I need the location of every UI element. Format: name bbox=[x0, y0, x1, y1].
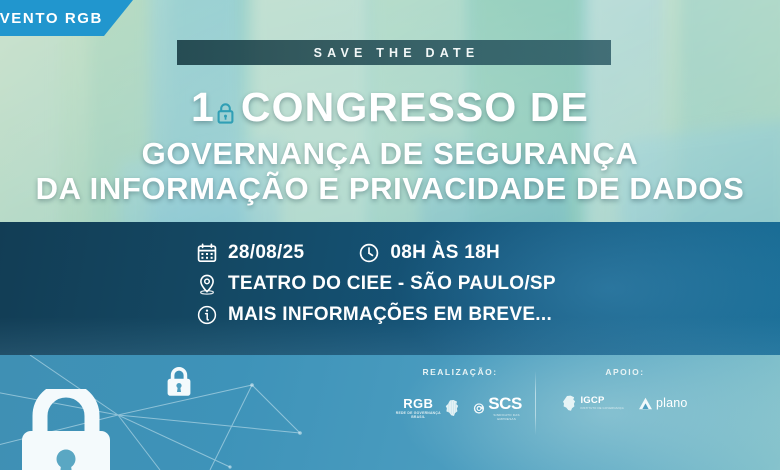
event-banner: VENTO RGB SAVE THE DATE 1CONGRESSO DE GO… bbox=[0, 0, 780, 470]
headline-ordinal-number: 1 bbox=[191, 84, 215, 130]
apoio-section: APOIO: IGCP INSTITUTO DE GOVERNANÇA bbox=[545, 367, 705, 411]
headline-line-2: GOVERNANÇA DE SEGURANÇA bbox=[0, 136, 780, 171]
plano-logo: plano bbox=[638, 396, 688, 411]
igcp-logo-word: IGCP bbox=[580, 396, 604, 406]
save-the-date-label: SAVE THE DATE bbox=[309, 46, 480, 60]
footer-bar: REALIZAÇÃO: RGB REDE DE GOVERNANÇA BRASI… bbox=[0, 355, 780, 470]
globe-swirl-icon bbox=[473, 401, 485, 416]
sponsor-credits: REALIZAÇÃO: RGB REDE DE GOVERNANÇA BRASI… bbox=[395, 367, 705, 457]
padlock-icon bbox=[217, 87, 234, 133]
padlock-small-icon bbox=[166, 367, 192, 397]
padlock-large-icon bbox=[18, 389, 114, 470]
apoio-label: APOIO: bbox=[545, 367, 705, 377]
realizacao-section: REALIZAÇÃO: RGB REDE DE GOVERNANÇA BRASI… bbox=[395, 367, 525, 421]
event-date-text: 28/08/25 bbox=[228, 242, 304, 264]
event-more-info-text: MAIS INFORMAÇÕES EM BREVE... bbox=[228, 304, 552, 326]
headline-line-1: 1CONGRESSO DE bbox=[0, 84, 780, 133]
detail-row-more-info: MAIS INFORMAÇÕES EM BREVE... bbox=[196, 304, 556, 326]
detail-row-date-time: 28/08/25 08H ÀS 18H bbox=[196, 242, 556, 264]
rgb-logo: RGB REDE DE GOVERNANÇA BRASIL bbox=[395, 397, 459, 420]
headline-line-1-text: CONGRESSO DE bbox=[241, 84, 589, 130]
page-title: 1CONGRESSO DE GOVERNANÇA DE SEGURANÇA DA… bbox=[0, 84, 780, 206]
igcp-logo-subtitle: INSTITUTO DE GOVERNANÇA bbox=[580, 406, 624, 410]
apoio-logo-row: IGCP INSTITUTO DE GOVERNANÇA plano bbox=[545, 395, 705, 411]
event-details-list: 28/08/25 08H ÀS 18H TEATRO DO CIEE - SÃO… bbox=[196, 242, 556, 335]
clock-icon bbox=[358, 243, 379, 264]
location-pin-icon bbox=[196, 274, 217, 295]
triangle-arrow-icon bbox=[638, 396, 653, 411]
info-circle-icon bbox=[196, 305, 217, 326]
event-time-text: 08H ÀS 18H bbox=[390, 242, 500, 264]
scs-logo-word: SCS bbox=[488, 395, 522, 412]
map-flag-icon bbox=[562, 395, 577, 411]
rgb-logo-subtitle: REDE DE GOVERNANÇA BRASIL bbox=[395, 411, 442, 419]
realizacao-label: REALIZAÇÃO: bbox=[395, 367, 525, 377]
headline-line-3: DA INFORMAÇÃO E PRIVACIDADE DE DADOS bbox=[0, 171, 780, 206]
detail-row-location: TEATRO DO CIEE - SÃO PAULO/SP bbox=[196, 273, 556, 295]
event-location-text: TEATRO DO CIEE - SÃO PAULO/SP bbox=[228, 273, 556, 295]
rgb-logo-word: RGB bbox=[403, 397, 433, 410]
realizacao-logo-row: RGB REDE DE GOVERNANÇA BRASIL bbox=[395, 395, 525, 421]
plano-logo-word: plano bbox=[656, 397, 688, 410]
credits-divider bbox=[535, 371, 536, 435]
igcp-logo: IGCP INSTITUTO DE GOVERNANÇA bbox=[562, 395, 624, 411]
brand-ribbon-label: VENTO RGB bbox=[0, 10, 103, 27]
save-the-date-bar: SAVE THE DATE bbox=[177, 40, 611, 65]
calendar-icon bbox=[196, 243, 217, 264]
brazil-map-icon bbox=[445, 397, 460, 419]
scs-logo: SCS SINDICATO DAS EMPRESAS bbox=[473, 395, 525, 421]
scs-logo-subtitle: SINDICATO DAS EMPRESAS bbox=[488, 413, 525, 421]
